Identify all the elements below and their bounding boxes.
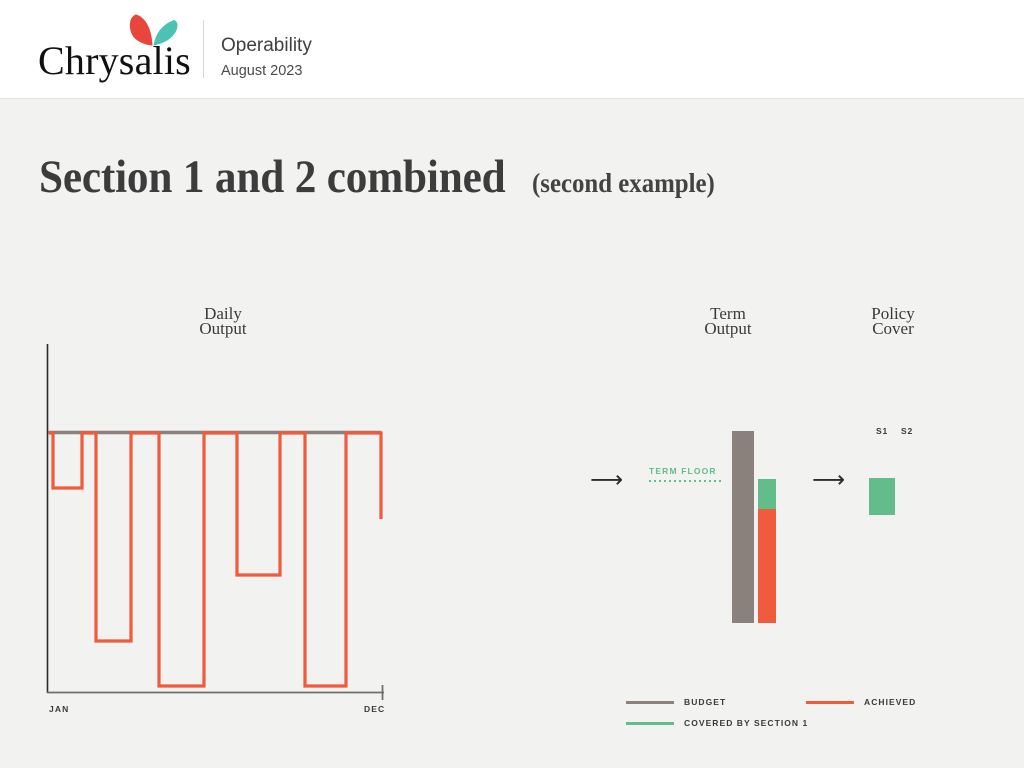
legend-label-budget: BUDGET bbox=[684, 697, 726, 707]
daily-output-chart bbox=[0, 0, 1024, 768]
x-axis-label-dec: DEC bbox=[364, 704, 385, 714]
term-floor-label: TERM FLOOR bbox=[649, 466, 725, 476]
term-floor-dotted-line bbox=[649, 480, 721, 482]
legend-label-achieved: ACHIEVED bbox=[864, 697, 916, 707]
term-budget-bar bbox=[732, 431, 754, 623]
policy-section-label-s2: S2 bbox=[901, 426, 913, 436]
term-floor-annotation: TERM FLOOR bbox=[649, 466, 725, 482]
flow-arrow-2-icon: ⟶ bbox=[812, 470, 845, 490]
legend-item-achieved: ACHIEVED bbox=[806, 697, 916, 707]
legend-swatch-budget bbox=[626, 701, 674, 704]
legend-label-covered: COVERED BY SECTION 1 bbox=[684, 718, 808, 728]
term-achieved-bar bbox=[758, 509, 776, 623]
legend-item-covered-by-section-1: COVERED BY SECTION 1 bbox=[626, 718, 808, 728]
legend-swatch-covered bbox=[626, 722, 674, 725]
legend-item-budget: BUDGET bbox=[626, 697, 726, 707]
achieved-step-line bbox=[49, 433, 381, 686]
x-axis-label-jan: JAN bbox=[49, 704, 69, 714]
policy-section-label-s1: S1 bbox=[876, 426, 888, 436]
policy-cover-s1-bar bbox=[869, 478, 895, 515]
flow-arrow-1-icon: ⟶ bbox=[590, 470, 623, 490]
legend-swatch-achieved bbox=[806, 701, 854, 704]
term-covered-by-section-1-bar bbox=[758, 479, 776, 509]
